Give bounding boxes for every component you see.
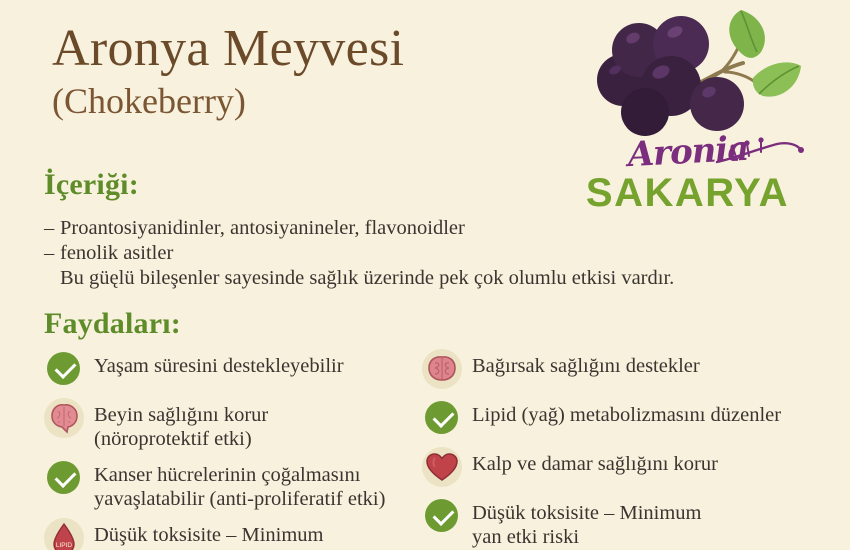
benefit-item: Kanser hücrelerinin çoğalmasını yavaşlat… bbox=[44, 458, 429, 511]
benefit-item: LIPID Düşük toksisite – Minimum bbox=[44, 518, 429, 550]
lipid-label: LIPID bbox=[56, 542, 73, 549]
benefit-text: Yaşam süresini destekleyebilir bbox=[94, 349, 344, 378]
check-circle-icon bbox=[422, 496, 462, 536]
benefits-grid: Yaşam süresini destekleyebilir Beyin sağ… bbox=[44, 349, 834, 550]
benefit-text: Düşük toksisite – Minimum yan etki riski bbox=[472, 496, 702, 549]
benefit-text: Bağırsak sağlığını destekler bbox=[472, 349, 700, 378]
benefit-text: Kalp ve damar sağlığını korur bbox=[472, 447, 718, 476]
benefit-text: Lipid (yağ) metabolizmasını düzenler bbox=[472, 398, 781, 427]
benefits-section-heading: Faydaları: bbox=[44, 307, 181, 341]
check-circle-icon bbox=[44, 458, 84, 498]
content-line-text: fenolik asitler bbox=[60, 242, 173, 264]
benefits-left-column: Yaşam süresini destekleyebilir Beyin sağ… bbox=[44, 349, 429, 550]
benefit-item: Yaşam süresini destekleyebilir bbox=[44, 349, 429, 391]
logo-word-text: SAKARYA bbox=[565, 171, 810, 216]
lipid-droplet-icon: LIPID bbox=[44, 518, 84, 550]
bullet-dash: – bbox=[44, 241, 60, 266]
page-title: Aronya Meyvesi bbox=[52, 22, 572, 76]
content-list: –Proantosiyanidinler, antosiyanineler, f… bbox=[44, 216, 804, 291]
brand-logo: Aronia SAKARYA bbox=[565, 8, 810, 223]
benefit-item: Bağırsak sağlığını destekler bbox=[422, 349, 807, 391]
check-circle-icon bbox=[44, 349, 84, 389]
page-subtitle: (Chokeberry) bbox=[52, 82, 572, 122]
brain-icon bbox=[44, 398, 84, 438]
bullet-dash: – bbox=[44, 216, 60, 241]
infographic-poster: Aronya Meyvesi (Chokeberry) bbox=[0, 0, 850, 550]
benefit-text: Kanser hücrelerinin çoğalmasını yavaşlat… bbox=[94, 458, 385, 511]
benefit-item: Düşük toksisite – Minimum yan etki riski bbox=[422, 496, 807, 549]
benefit-item: Kalp ve damar sağlığını korur bbox=[422, 447, 807, 489]
content-line: –fenolik asitler bbox=[44, 241, 804, 266]
benefit-item: Lipid (yağ) metabolizmasını düzenler bbox=[422, 398, 807, 440]
content-section-heading: İçeriği: bbox=[44, 168, 139, 202]
content-line-text: Proantosiyanidinler, antosiyanineler, fl… bbox=[60, 217, 465, 239]
content-line: Bu güęlü bileşenler sayesinde sağlık üze… bbox=[44, 266, 804, 291]
benefit-item: Beyin sağlığını korur (nöroprotektif etk… bbox=[44, 398, 429, 451]
poster-header: Aronya Meyvesi (Chokeberry) bbox=[52, 22, 572, 122]
benefit-text: Düşük toksisite – Minimum bbox=[94, 518, 324, 547]
check-circle-icon bbox=[422, 398, 462, 438]
content-line: –Proantosiyanidinler, antosiyanineler, f… bbox=[44, 216, 804, 241]
benefits-right-column: Bağırsak sağlığını destekler Lipid (yağ)… bbox=[422, 349, 807, 550]
content-line-text: Bu güęlü bileşenler sayesinde sağlık üze… bbox=[60, 267, 674, 289]
intestine-icon bbox=[422, 349, 462, 389]
heart-icon bbox=[422, 447, 462, 487]
benefit-text: Beyin sağlığını korur (nöroprotektif etk… bbox=[94, 398, 268, 451]
